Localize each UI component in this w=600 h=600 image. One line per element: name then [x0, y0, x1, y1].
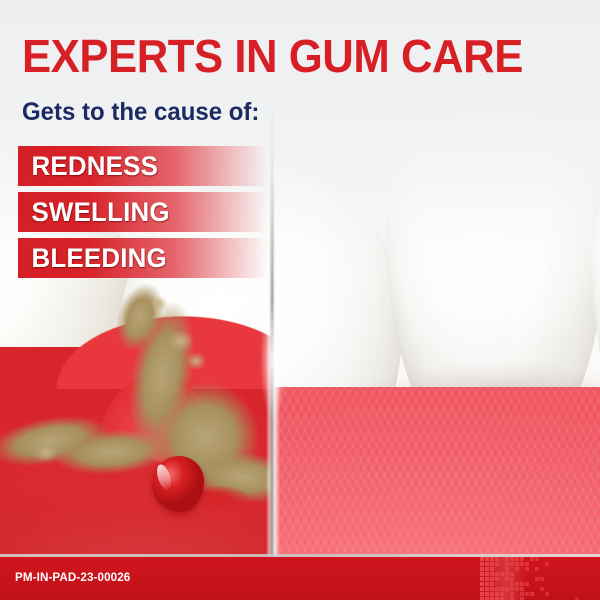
healthy-gum-tissue — [274, 387, 600, 557]
gum-texture — [274, 387, 600, 557]
advertisement-canvas: EXPERTS IN GUM CARE Gets to the cause of… — [0, 0, 600, 600]
symptom-item-swelling: SWELLING — [18, 192, 268, 232]
blood-droplet-icon — [152, 456, 204, 512]
divider-glow — [260, 300, 286, 420]
symptom-item-redness: REDNESS — [18, 146, 268, 186]
symptom-label: BLEEDING — [18, 243, 167, 274]
pixel-dissolve-pattern — [480, 557, 600, 600]
reference-code: PM-IN-PAD-23-00026 — [15, 570, 130, 584]
healthy-gums-panel — [274, 0, 600, 557]
symptom-label: SWELLING — [18, 197, 170, 228]
symptom-item-bleeding: BLEEDING — [18, 238, 268, 278]
plaque-speck — [186, 352, 206, 370]
page-title: EXPERTS IN GUM CARE — [22, 33, 523, 79]
split-divider — [266, 0, 280, 557]
symptom-label: REDNESS — [18, 151, 158, 182]
gum-comparison-illustration — [0, 0, 600, 600]
footer-bar: PM-IN-PAD-23-00026 — [0, 557, 600, 600]
plaque-speck — [34, 444, 58, 462]
plaque-speck — [150, 296, 168, 312]
symptom-list: REDNESS SWELLING BLEEDING — [18, 146, 268, 284]
plaque-speck — [168, 330, 194, 352]
subheading: Gets to the cause of: — [22, 100, 259, 125]
